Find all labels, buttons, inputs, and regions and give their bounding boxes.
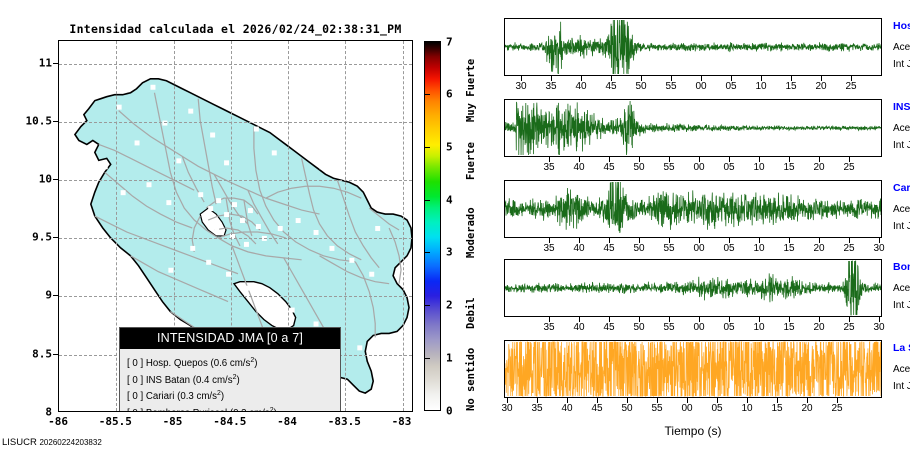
map-panel: Intensidad calculada el 2026/02/24_02:38…: [0, 0, 495, 460]
legend-rows: [ 0 ] Hosp. Quepos (0.6 cm/s2) [ 0 ] INS…: [120, 349, 340, 412]
axis-tick-label: 35: [534, 243, 564, 254]
x-tick-label: -83: [372, 415, 432, 428]
legend-title: INTENSIDAD JMA [0 a 7]: [120, 328, 340, 349]
axis-tick-label: 05: [702, 403, 732, 414]
x-tick-label: -84.5: [200, 415, 260, 428]
seismogram-trace-box[interactable]: [504, 180, 882, 238]
y-tick-mark: [53, 237, 58, 238]
axis-tick-label: 00: [686, 81, 716, 92]
watermark-timestamp: 20260224203832: [39, 438, 101, 447]
axis-tick-label: 05: [716, 81, 746, 92]
colorbar-tick-label: 2: [446, 299, 453, 312]
axis-tick-label: 10: [746, 81, 776, 92]
axis-tick-label: 40: [566, 81, 596, 92]
axis-tick-label: 20: [792, 403, 822, 414]
colorbar-tick-label: 5: [446, 140, 453, 153]
x-tick-mark: [403, 411, 404, 412]
axis-tick-label: 35: [522, 403, 552, 414]
gridline-horizontal: [59, 238, 412, 239]
station-jma: Int JMA: 0: [893, 300, 910, 311]
axis-tick-label: 55: [654, 243, 684, 254]
colorbar-tick: [424, 94, 430, 95]
axis-tick-label: 50: [612, 403, 642, 414]
x-tick-mark: [59, 411, 60, 412]
colorbar-category-label: Fuerte: [465, 142, 477, 180]
x-tick-label: -86: [28, 415, 88, 428]
watermark: LISUCR 20260224203832: [2, 437, 102, 448]
list-item: [ 0 ] Bomberos Puriscal (0.3 cm/s2): [127, 404, 340, 412]
colorbar-category-label: No sentido: [465, 348, 477, 411]
station-accel: Acel. Max. 0.0: [893, 42, 910, 53]
y-tick-mark: [53, 354, 58, 355]
axis-tick-label: 35: [536, 81, 566, 92]
y-tick-mark: [53, 63, 58, 64]
page-title: Intensidad calculada el 2026/02/24_02:38…: [58, 22, 413, 36]
waveform-svg: [505, 341, 881, 397]
station-jma: Int JMA: 0: [893, 221, 910, 232]
axis-tick-label: 25: [834, 322, 864, 333]
legend-intensity: [ 0 ]: [127, 392, 143, 403]
gridline-horizontal: [59, 122, 412, 123]
legend-station: Bomberos Puriscal: [146, 408, 227, 412]
time-axis: 30 35 40 45 50 55 00 05 10 15 20 25: [504, 398, 882, 416]
x-tick-mark: [231, 411, 232, 412]
waveform-svg: [505, 100, 881, 156]
legend-unit: cm/s: [249, 408, 269, 412]
x-tick-label: -83.5: [314, 415, 374, 428]
colorbar-tick-label: 6: [446, 87, 453, 100]
legend-accel: 0.3: [233, 408, 246, 412]
y-tick-label: 8.5: [6, 347, 52, 360]
list-item: [ 0 ] INS Batan (0.4 cm/s2): [127, 371, 340, 388]
y-tick-mark: [53, 295, 58, 296]
axis-tick-label: 45: [594, 162, 624, 173]
legend-station: Hosp. Quepos: [146, 358, 208, 369]
axis-tick-label: 40: [552, 403, 582, 414]
time-axis: 35 40 45 50 55 00 05 10 15 20 25 30: [504, 238, 882, 256]
y-tick-label: 10: [6, 173, 52, 186]
x-tick-label: -85.5: [85, 415, 145, 428]
axis-tick-label: 20: [804, 162, 834, 173]
station-accel: Acel. Max. 0.0: [893, 123, 910, 134]
axis-tick-label: 10: [744, 162, 774, 173]
axis-tick-label: 15: [776, 81, 806, 92]
axis-tick-label: 25: [822, 403, 852, 414]
axis-tick-label: 15: [774, 243, 804, 254]
station-accel: Acel. Max. 0.0: [893, 204, 910, 215]
station-name: La Sabana: [893, 342, 910, 354]
list-item: [ 0 ] Cariari (0.3 cm/s2): [127, 387, 340, 404]
legend-accel: 0.4: [196, 375, 209, 386]
axis-tick-label: 20: [804, 243, 834, 254]
axis-tick-label: 10: [744, 243, 774, 254]
seismogram-panel: 30 35 40 45 50 55 00 05 10 15 20 25 Hosp…: [495, 0, 910, 460]
y-tick-label: 10.5: [6, 115, 52, 128]
station-jma: Int JMA: 0: [893, 140, 910, 151]
colorbar-tick-label: 4: [446, 193, 453, 206]
legend-station: Cariari: [146, 392, 175, 403]
gridline-horizontal: [59, 296, 412, 297]
axis-tick-label: 10: [732, 403, 762, 414]
colorbar-tick-label: 7: [446, 35, 453, 48]
axis-tick-label: 50: [624, 322, 654, 333]
seismogram-trace-box[interactable]: [504, 99, 882, 157]
seismogram-trace-box[interactable]: [504, 18, 882, 76]
waveform-svg: [505, 260, 881, 316]
axis-tick-label: 45: [582, 403, 612, 414]
intensity-legend: INTENSIDAD JMA [0 a 7] [ 0 ] Hosp. Quepo…: [119, 327, 341, 412]
axis-tick-label: 50: [626, 81, 656, 92]
y-tick-mark: [53, 121, 58, 122]
axis-tick-label: 05: [714, 162, 744, 173]
map-plot-area[interactable]: INTENSIDAD JMA [0 a 7] [ 0 ] Hosp. Quepo…: [58, 40, 413, 412]
colorbar-category-label: Debil: [465, 297, 477, 329]
axis-tick-label: 35: [534, 162, 564, 173]
legend-accel: 0.6: [214, 358, 227, 369]
axis-tick-label: 15: [774, 162, 804, 173]
station-accel: Acel. Max. 0.0: [893, 283, 910, 294]
x-tick-mark: [116, 411, 117, 412]
colorbar-tick-label: 0: [446, 405, 453, 418]
axis-tick-label: 15: [762, 403, 792, 414]
x-tick-mark: [345, 411, 346, 412]
x-tick-mark: [174, 411, 175, 412]
legend-accel: 0.3: [180, 392, 193, 403]
watermark-label: LISUCR: [2, 437, 37, 448]
station-name: Bomberos Puriscal: [893, 261, 910, 273]
axis-tick-label: 40: [564, 162, 594, 173]
axis-tick-label: 25: [836, 81, 866, 92]
colorbar-tick: [424, 252, 430, 253]
station-accel: Acel. Max. 0.0: [893, 364, 910, 375]
colorbar-tick: [424, 200, 430, 201]
time-axis: 30 35 40 45 50 55 00 05 10 15 20 25: [504, 76, 882, 94]
axis-tick-label: 00: [684, 243, 714, 254]
colorbar-tick-label: 1: [446, 352, 453, 365]
y-tick-label: 11: [6, 56, 52, 69]
axis-tick-label: 00: [684, 162, 714, 173]
legend-unit: cm/s: [196, 392, 216, 403]
intensity-colorbar: [424, 41, 441, 411]
axis-tick-label: 45: [596, 81, 626, 92]
axis-tick-label: 30: [864, 322, 894, 333]
axis-tick-label: 55: [654, 162, 684, 173]
gridline-horizontal: [59, 180, 412, 181]
station-jma: Int JMA: 0: [893, 59, 910, 70]
axis-tick-label: 55: [656, 81, 686, 92]
legend-intensity: [ 0 ]: [127, 375, 143, 386]
list-item: [ 0 ] Hosp. Quepos (0.6 cm/s2): [127, 354, 340, 371]
time-axis: 35 40 45 50 55 00 05 10 15 20 25: [504, 157, 882, 175]
axis-tick-label: 10: [744, 322, 774, 333]
y-tick-label: 9.5: [6, 231, 52, 244]
axis-tick-label: 30: [506, 81, 536, 92]
axis-tick-label: 25: [834, 243, 864, 254]
axis-tick-label: 30: [492, 403, 522, 414]
station-name: Hosp. Quepos: [893, 20, 910, 32]
y-tick-label: 9: [6, 289, 52, 302]
axis-tick-label: 40: [564, 322, 594, 333]
legend-intensity: [ 0 ]: [127, 358, 143, 369]
colorbar-category-label: Moderado: [465, 207, 477, 258]
x-tick-label: -84: [257, 415, 317, 428]
time-axis: 35 40 45 50 55 00 05 10 15 20 25 30: [504, 317, 882, 335]
axis-tick-label: 00: [672, 403, 702, 414]
axis-tick-label: 50: [624, 162, 654, 173]
axis-tick-label: 55: [654, 322, 684, 333]
axis-tick-label: 35: [534, 322, 564, 333]
legend-intensity: [ 0 ]: [127, 408, 143, 412]
axis-tick-label: 05: [714, 243, 744, 254]
colorbar-tick: [424, 305, 430, 306]
waveform-svg: [505, 181, 881, 237]
colorbar-tick: [424, 147, 430, 148]
station-name: INS Batan: [893, 101, 910, 113]
axis-tick-label: 40: [564, 243, 594, 254]
station-name: Cariari: [893, 182, 910, 194]
axis-tick-label: 55: [642, 403, 672, 414]
x-tick-label: -85: [143, 415, 203, 428]
gridline-horizontal: [59, 64, 412, 65]
station-jma: Int JMA: 0: [893, 381, 910, 392]
x-axis-title: Tiempo (s): [504, 424, 882, 438]
legend-unit: cm/s: [230, 358, 250, 369]
axis-tick-label: 20: [804, 322, 834, 333]
y-tick-mark: [53, 179, 58, 180]
axis-tick-label: 50: [624, 243, 654, 254]
axis-tick-label: 25: [834, 162, 864, 173]
x-tick-mark: [288, 411, 289, 412]
axis-tick-label: 20: [806, 81, 836, 92]
axis-tick-label: 05: [714, 322, 744, 333]
axis-tick-label: 45: [594, 243, 624, 254]
waveform-svg: [505, 19, 881, 75]
axis-tick-label: 15: [774, 322, 804, 333]
seismogram-trace-box[interactable]: [504, 340, 882, 398]
colorbar-tick-label: 3: [446, 246, 453, 259]
seismogram-trace-box[interactable]: [504, 259, 882, 317]
legend-station: INS Batan: [146, 375, 190, 386]
colorbar-category-label: Muy Fuerte: [465, 59, 477, 122]
axis-tick-label: 30: [864, 243, 894, 254]
axis-tick-label: 00: [684, 322, 714, 333]
colorbar-tick: [424, 358, 430, 359]
legend-unit: cm/s: [212, 375, 232, 386]
axis-tick-label: 45: [594, 322, 624, 333]
